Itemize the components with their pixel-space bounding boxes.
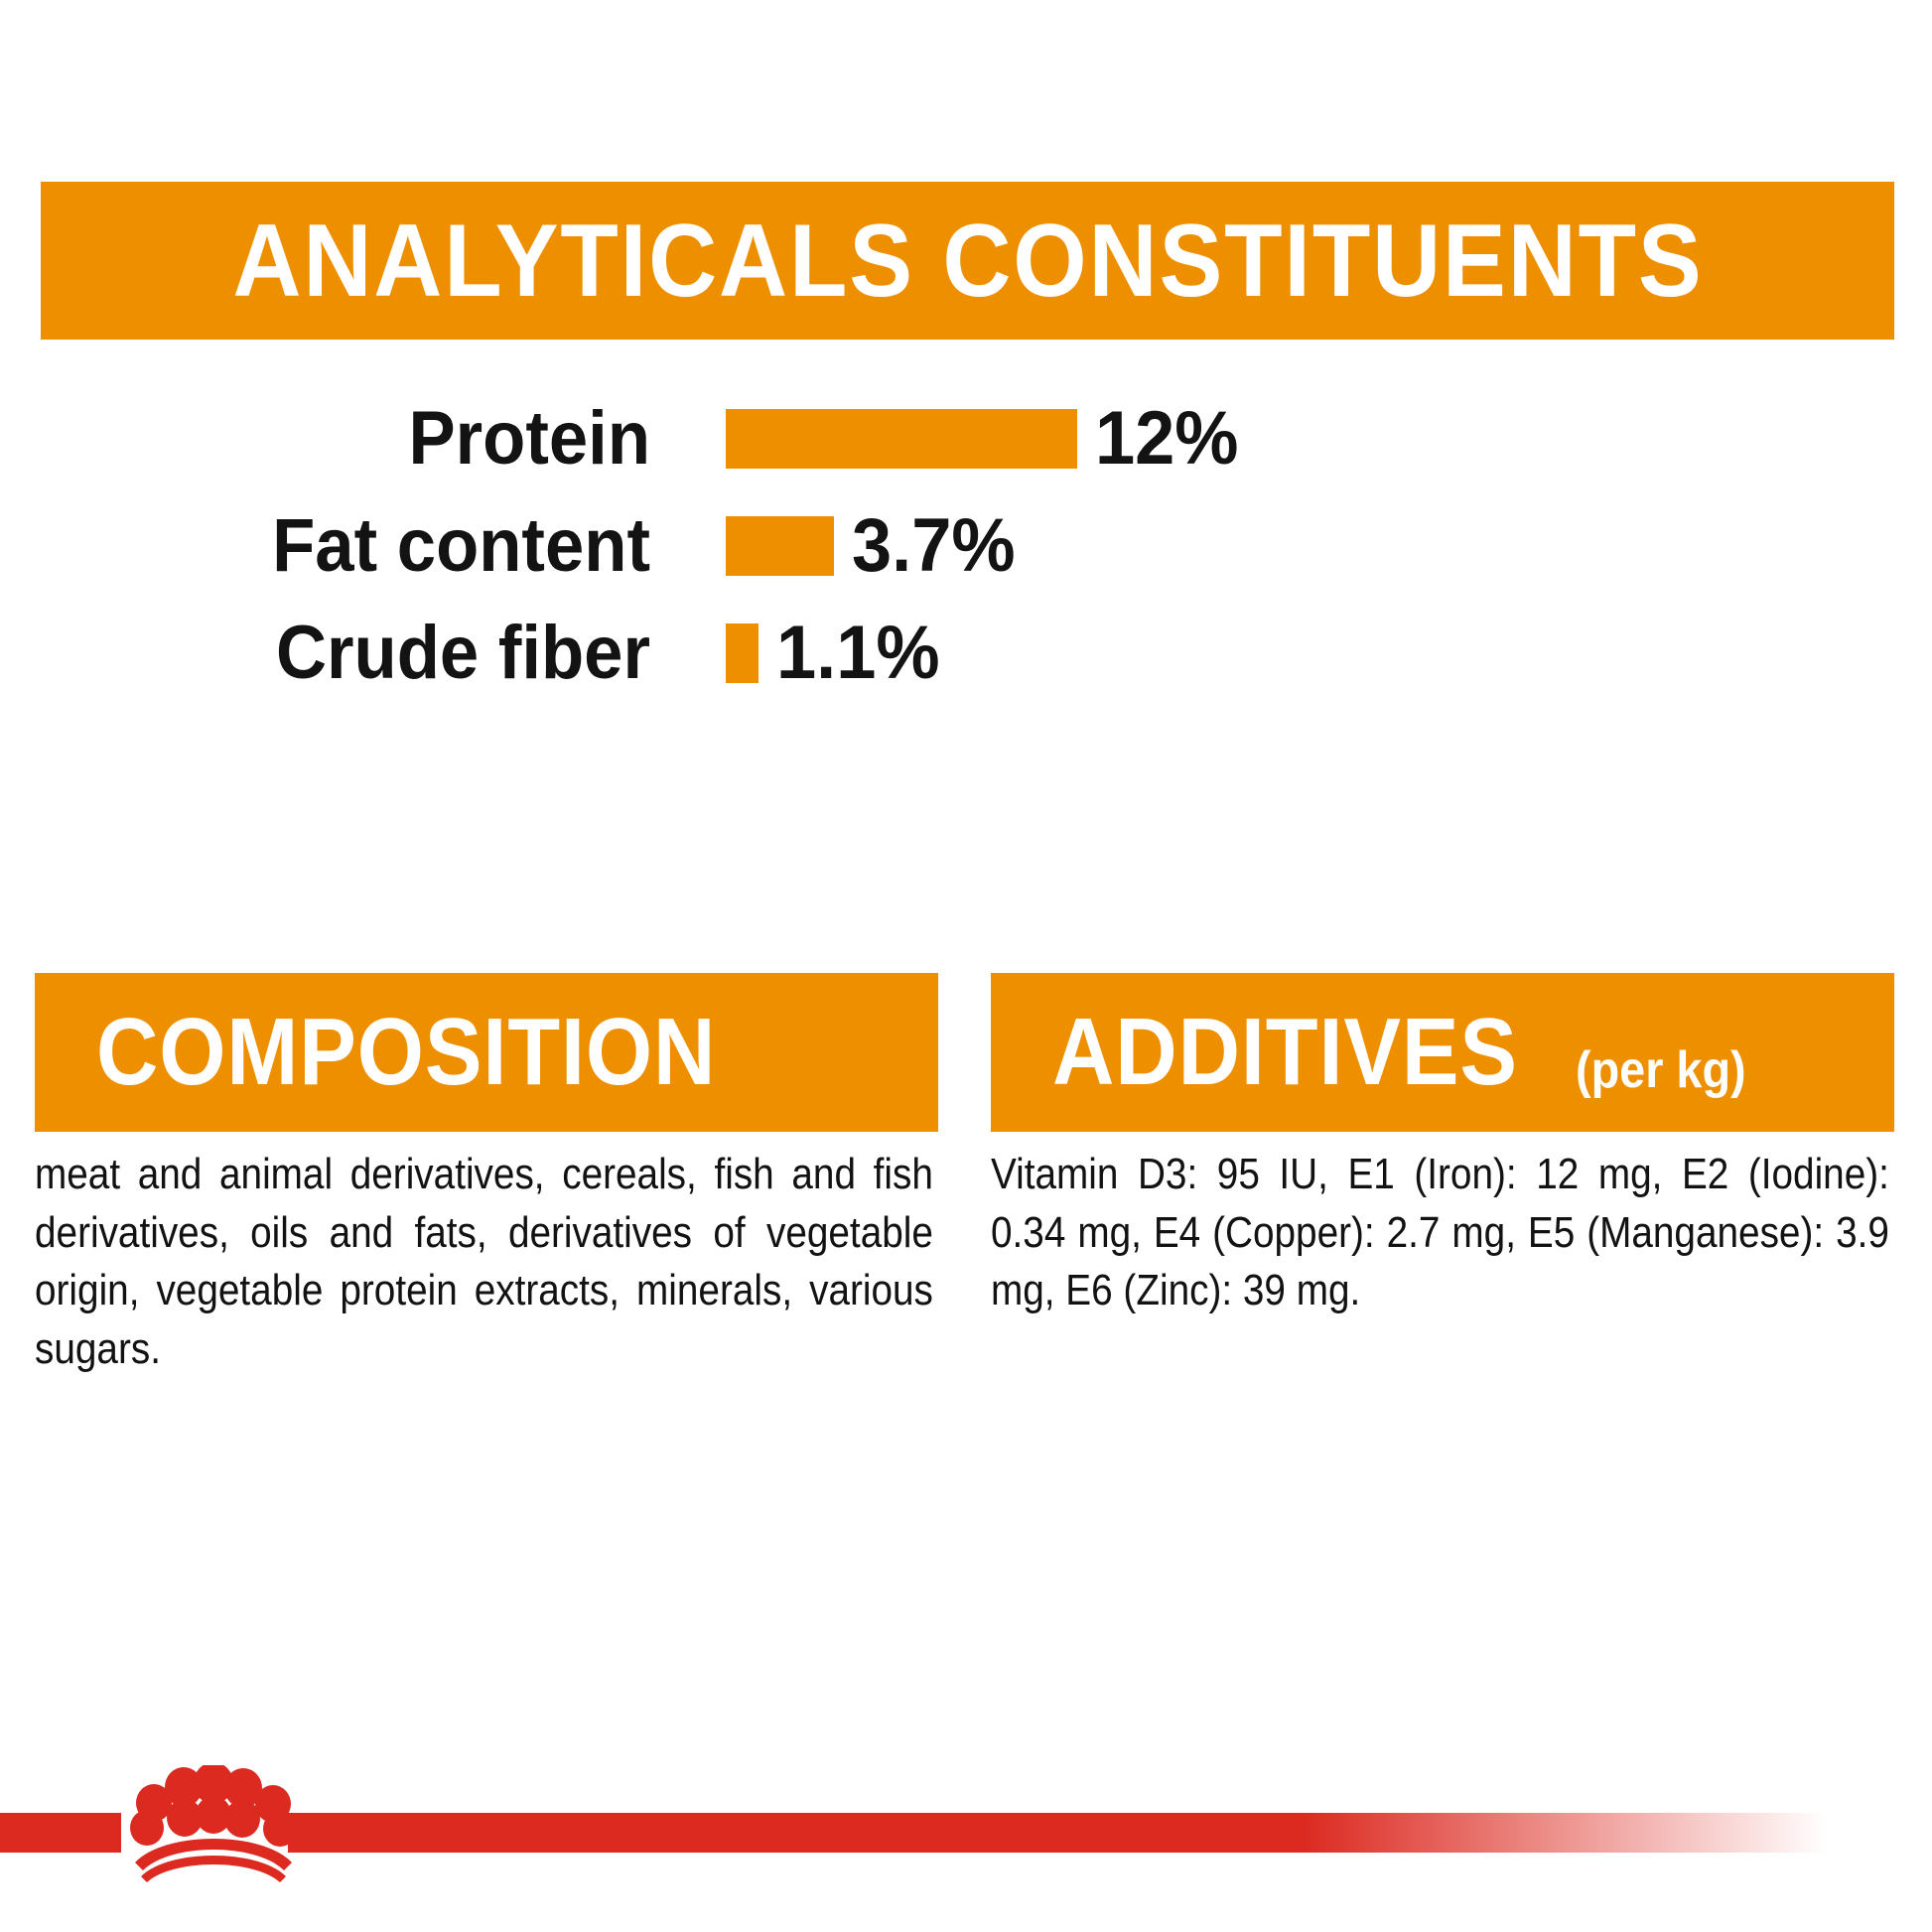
composition-section: COMPOSITION meat and animal derivatives,… — [35, 973, 938, 1378]
constituent-bar-group: 3.7% — [726, 508, 1024, 584]
composition-title: COMPOSITION — [96, 1005, 716, 1100]
additives-subtitle: (per kg) — [1576, 1044, 1746, 1096]
additives-title: ADDITIVES — [1052, 1005, 1518, 1100]
additives-banner: ADDITIVES (per kg) — [991, 973, 1894, 1132]
constituent-bar — [726, 409, 1077, 469]
constituent-bar — [726, 516, 834, 576]
constituent-bar — [726, 623, 759, 683]
constituent-label: Fat content — [46, 508, 650, 584]
constituent-value: 12% — [1095, 401, 1239, 477]
footer — [0, 1813, 1932, 1932]
composition-banner: COMPOSITION — [35, 973, 938, 1132]
royal-canin-crown-icon — [125, 1765, 302, 1884]
additives-body-text: Vitamin D3: 95 IU, E1 (Iron): 12 mg, E2 … — [991, 1146, 1889, 1320]
constituent-row-fat-content: Fat content 3.7% — [0, 492, 1932, 600]
constituent-label: Crude fiber — [46, 616, 650, 691]
additives-section: ADDITIVES (per kg) Vitamin D3: 95 IU, E1… — [991, 973, 1894, 1320]
constituent-bar-group: 12% — [726, 401, 1246, 477]
constituent-value: 1.1% — [776, 616, 940, 691]
constituent-bar-group: 1.1% — [726, 616, 948, 691]
constituent-row-protein: Protein 12% — [0, 385, 1932, 492]
constituent-row-crude-fiber: Crude fiber 1.1% — [0, 600, 1932, 707]
footer-rule-right — [288, 1813, 1827, 1853]
constituent-label: Protein — [46, 401, 650, 477]
composition-body-text: meat and animal derivatives, cereals, fi… — [35, 1146, 933, 1378]
analyticals-constituents-banner: ANALYTICALS CONSTITUENTS — [41, 182, 1894, 340]
constituent-value: 3.7% — [852, 508, 1016, 584]
footer-rule-left — [0, 1813, 121, 1853]
page-title: ANALYTICALS CONSTITUENTS — [232, 209, 1703, 313]
analyticals-constituents-chart: Protein 12% Fat content 3.7% Crude fiber… — [0, 385, 1932, 707]
